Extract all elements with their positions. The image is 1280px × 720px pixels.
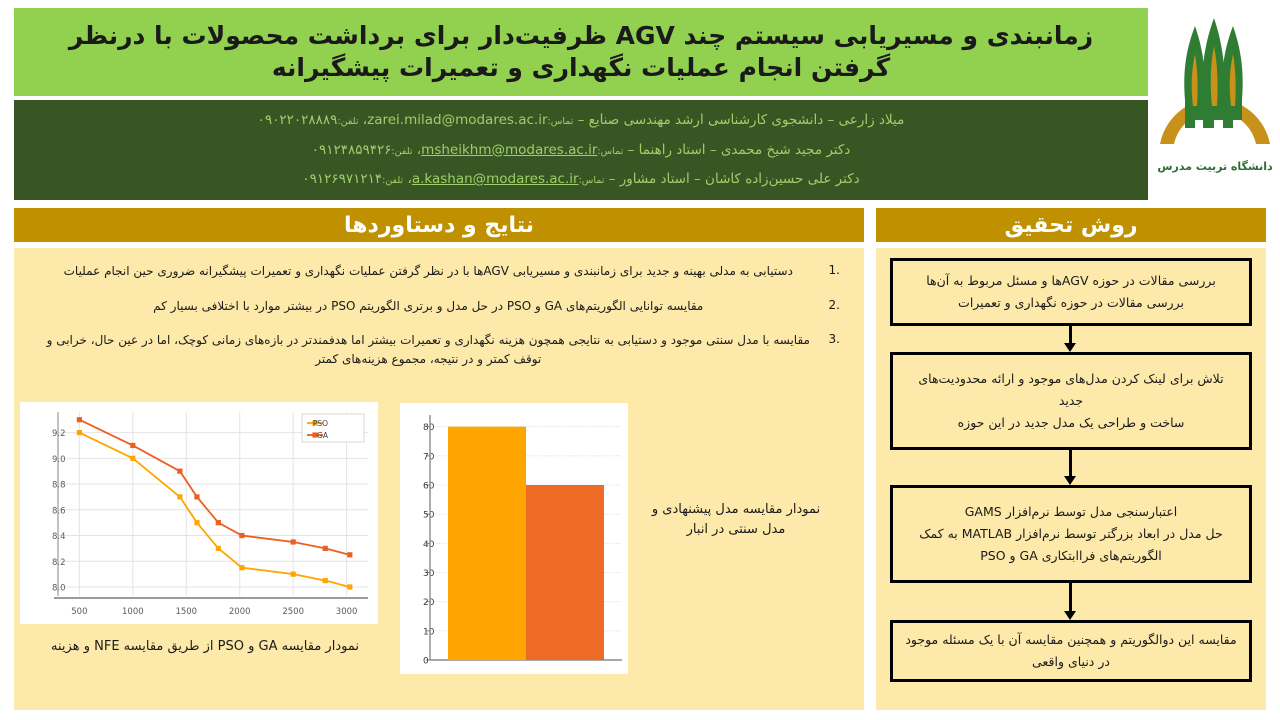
- flow-arrow-3: [1069, 583, 1072, 612]
- svg-text:9.2: 9.2: [52, 429, 66, 439]
- result-item-text: مقایسه توانایی الگوریتم‌های GA و PSO در …: [38, 297, 819, 316]
- svg-text:8.2: 8.2: [52, 558, 66, 568]
- method-step-1-line-1: بررسی مقالات در حوزه AGVها و مسئل مربوط …: [926, 270, 1216, 292]
- svg-text:70: 70: [423, 452, 435, 462]
- svg-text:0: 0: [423, 657, 429, 667]
- svg-text:40: 40: [423, 540, 435, 550]
- author-2-phone: ۰۹۱۲۴۸۵۹۴۲۶: [312, 142, 392, 158]
- line-chart-canvas: 8.08.28.48.68.89.09.25001000150020002500…: [20, 402, 378, 624]
- results-header-label: نتایج و دستاوردها: [344, 213, 534, 238]
- author-2-phone-label: تلفن:: [391, 146, 412, 157]
- author-line-1: میلاد زارعی – دانشجوی کارشناسی ارشد مهند…: [258, 113, 905, 128]
- bar-chart-caption: نمودار مقایسه مدل پیشنهادی و مدل سنتی در…: [646, 500, 826, 540]
- svg-text:30: 30: [423, 569, 435, 579]
- list-item: 1. دستیابی به مدلی بهینه و جدید برای زما…: [38, 262, 840, 281]
- method-step-4: مقایسه این دوالگوریتم و همچنین مقایسه آن…: [890, 620, 1252, 682]
- line-chart-caption: نمودار مقایسه GA و PSO از طریق مقایسه NF…: [30, 636, 380, 658]
- poster-title-band: زمانبندی و مسیریابی سیستم چند AGV ظرفیت‌…: [14, 8, 1148, 96]
- method-section-header: روش تحقیق: [876, 208, 1266, 242]
- svg-text:80: 80: [423, 423, 435, 433]
- author-3-phone: ۰۹۱۲۶۹۷۱۲۱۴: [302, 171, 382, 187]
- author-3-name: دکتر علی حسین‌زاده کاشان – استاد مشاور –: [609, 171, 860, 187]
- svg-text:GA: GA: [317, 431, 329, 440]
- author-1-phone: ۰۹۰۲۲۰۲۸۸۸۹: [258, 112, 338, 128]
- method-step-3: اعتبارسنجی مدل توسط نرم‌افزار GAMS حل مد…: [890, 485, 1252, 583]
- author-3-phone-label: تلفن:: [382, 175, 403, 186]
- author-2-name: دکتر مجید شیخ محمدی – استاد راهنما –: [628, 142, 851, 158]
- method-header-label: روش تحقیق: [1004, 213, 1137, 238]
- method-step-2: تلاش برای لینک کردن مدل‌های موجود و ارائ…: [890, 352, 1252, 450]
- method-step-1-line-2: بررسی مقالات در حوزه نگهداری و تعمیرات: [958, 292, 1184, 314]
- svg-text:60: 60: [423, 482, 435, 492]
- svg-text:50: 50: [423, 511, 435, 521]
- line-chart-nfe-vs-cost: 8.08.28.48.68.89.09.25001000150020002500…: [20, 402, 378, 624]
- author-1-contact-label: تماس:: [548, 116, 574, 127]
- bar-chart-canvas: 01020304050607080: [400, 403, 628, 674]
- flow-arrow-2: [1069, 450, 1072, 477]
- result-item-text: مقایسه با مدل سنتی موجود و دستیابی به نت…: [38, 331, 819, 368]
- svg-text:500: 500: [71, 607, 87, 617]
- author-line-2: دکتر مجید شیخ محمدی – استاد راهنما – تما…: [312, 143, 851, 158]
- flow-arrow-1: [1069, 326, 1072, 344]
- svg-text:1500: 1500: [175, 607, 197, 617]
- list-item: 3. مقایسه با مدل سنتی موجود و دستیابی به…: [38, 331, 840, 368]
- author-2-email[interactable]: msheikhm@modares.ac.ir: [421, 142, 597, 158]
- svg-text:20: 20: [423, 598, 435, 608]
- results-section-header: نتایج و دستاوردها: [14, 208, 864, 242]
- author-3-contact-label: تماس:: [579, 175, 605, 186]
- result-item-number: 2.: [829, 297, 840, 312]
- page-title: زمانبندی و مسیریابی سیستم چند AGV ظرفیت‌…: [28, 20, 1134, 84]
- author-1-phone-label: تلفن:: [337, 116, 358, 127]
- svg-text:3000: 3000: [336, 607, 358, 617]
- svg-text:PSO: PSO: [313, 419, 328, 428]
- author-3-email[interactable]: a.kashan@modares.ac.ir: [412, 171, 579, 187]
- author-2-contact-label: تماس:: [597, 146, 623, 157]
- result-item-number: 3.: [829, 331, 840, 346]
- university-logo-icon: [1152, 4, 1278, 174]
- results-list: 1. دستیابی به مدلی بهینه و جدید برای زما…: [14, 252, 864, 384]
- university-logo: دانشگاه تربیت مدرس: [1152, 4, 1278, 204]
- method-step-4-line-1: مقایسه این دوالگوریتم و همچنین مقایسه آن…: [905, 629, 1237, 673]
- svg-text:8.6: 8.6: [52, 506, 66, 516]
- authors-band: میلاد زارعی – دانشجوی کارشناسی ارشد مهند…: [14, 100, 1148, 200]
- svg-text:9.0: 9.0: [52, 455, 66, 465]
- university-logo-caption: دانشگاه تربیت مدرس: [1152, 160, 1278, 173]
- bar-chart-model-comparison: 01020304050607080: [400, 403, 628, 674]
- method-step-3-line-1: اعتبارسنجی مدل توسط نرم‌افزار GAMS: [965, 501, 1178, 523]
- list-item: 2. مقایسه توانایی الگوریتم‌های GA و PSO …: [38, 297, 840, 316]
- author-1-name: میلاد زارعی – دانشجوی کارشناسی ارشد مهند…: [578, 112, 905, 128]
- result-item-text: دستیابی به مدلی بهینه و جدید برای زمانبن…: [38, 262, 819, 281]
- svg-text:8.0: 8.0: [52, 583, 66, 593]
- method-step-2-line-2: ساخت و طراحی یک مدل جدید در این حوزه: [958, 412, 1185, 434]
- svg-text:2500: 2500: [282, 607, 304, 617]
- author-1-email[interactable]: zarei.milad@modares.ac.ir: [367, 112, 547, 128]
- svg-text:10: 10: [423, 627, 435, 637]
- poster-root: زمانبندی و مسیریابی سیستم چند AGV ظرفیت‌…: [0, 0, 1280, 720]
- svg-text:2000: 2000: [229, 607, 251, 617]
- result-item-number: 1.: [829, 262, 840, 277]
- svg-text:1000: 1000: [122, 607, 144, 617]
- author-line-3: دکتر علی حسین‌زاده کاشان – استاد مشاور –…: [302, 172, 859, 187]
- method-step-1: بررسی مقالات در حوزه AGVها و مسئل مربوط …: [890, 258, 1252, 326]
- method-step-2-line-1: تلاش برای لینک کردن مدل‌های موجود و ارائ…: [905, 368, 1237, 412]
- svg-text:8.8: 8.8: [52, 481, 66, 491]
- method-step-3-line-2: حل مدل در ابعاد بزرگتر توسط نرم‌افزار MA…: [905, 523, 1237, 567]
- svg-text:8.4: 8.4: [52, 532, 66, 542]
